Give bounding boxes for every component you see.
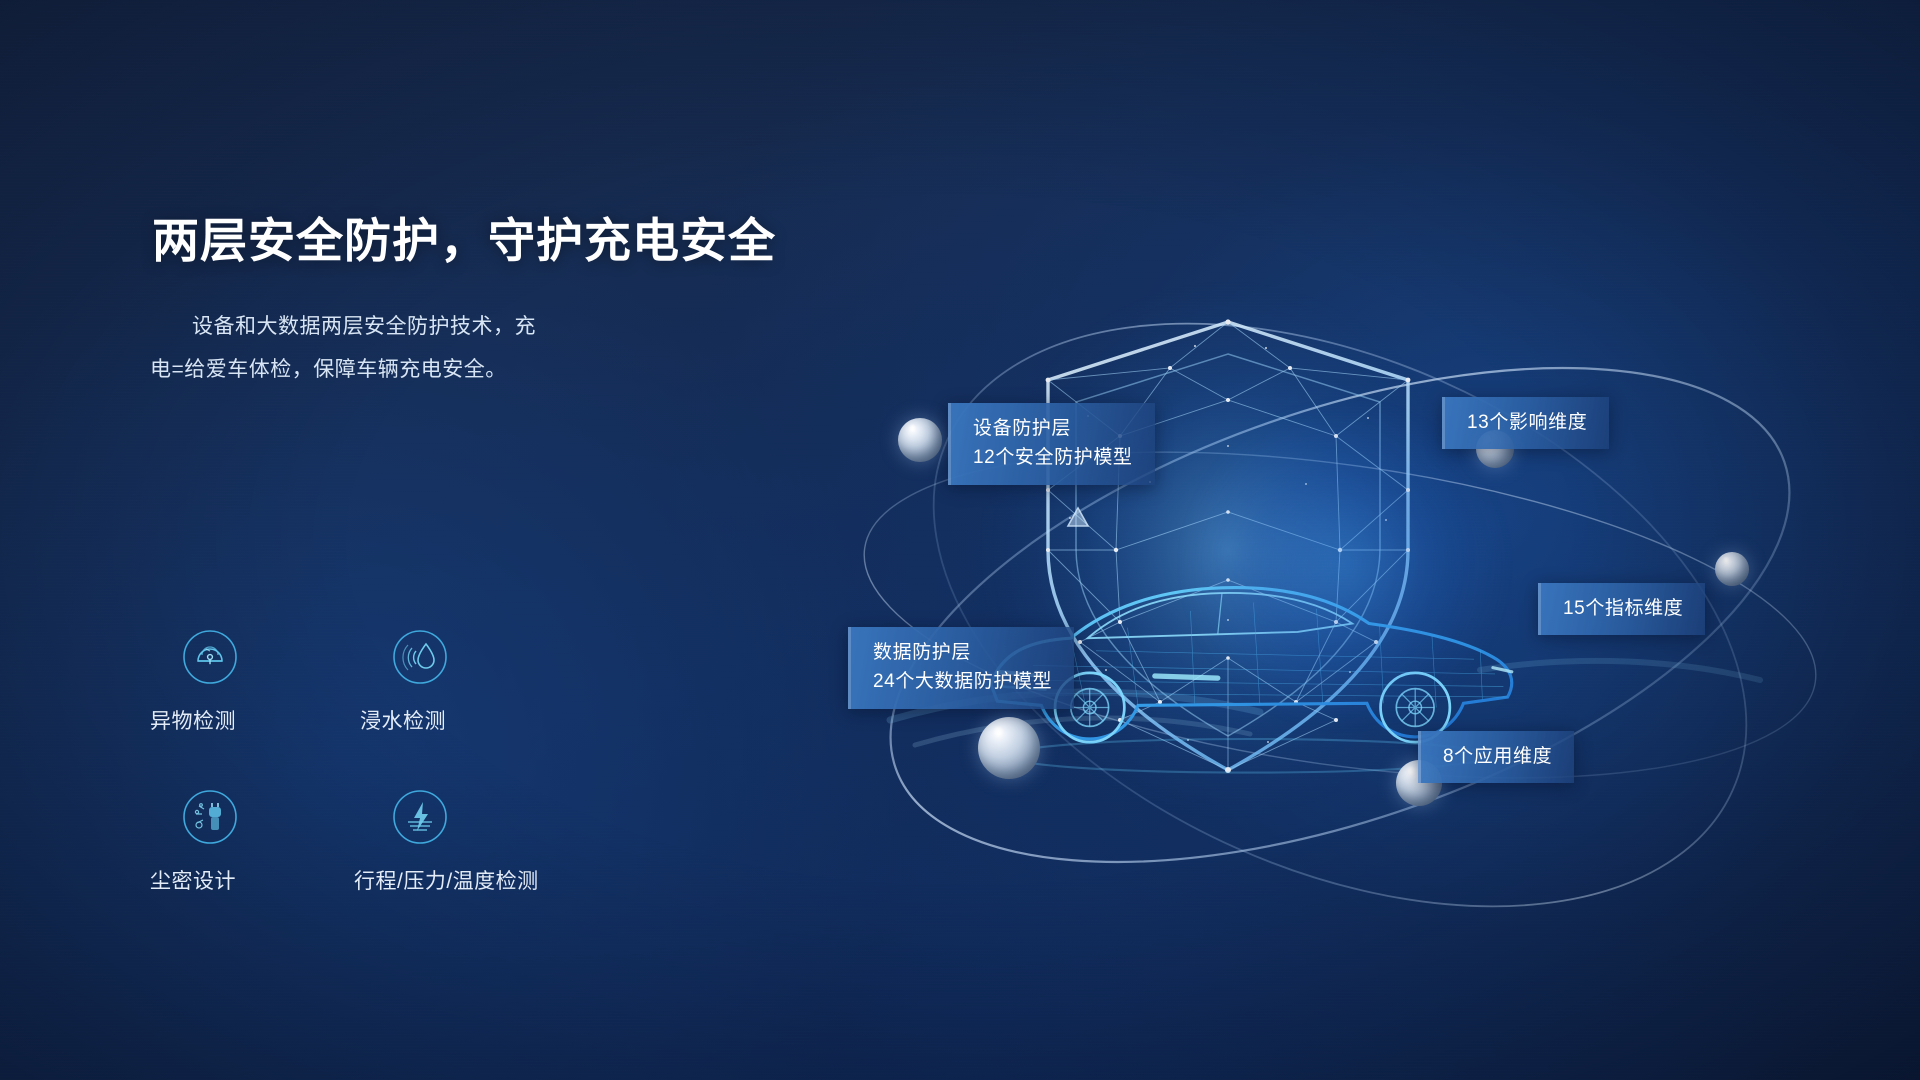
lock-shield-icon [180,627,240,687]
feature-label: 浸水检测 [360,705,570,735]
feature-label: 异物检测 [150,705,360,735]
callout-line2: 24个大数据防护模型 [873,667,1052,696]
callout-line1: 15个指标维度 [1563,598,1683,619]
feature-label: 行程/压力/温度检测 [354,865,570,895]
lightning-bolt-icon [390,787,450,847]
feature-row-1: 异物检测 浸水检测 [150,615,620,735]
slide-canvas: 两层安全防护，守护充电安全 设备和大数据两层安全防护技术，充 电=给爱车体检，保… [0,0,1920,1080]
feature-label: 尘密设计 [150,865,360,895]
page-title: 两层安全防护，守护充电安全 [152,213,912,268]
orbital-ring [820,250,1920,970]
callout-application-dimensions[interactable]: 8个应用维度 [1418,731,1574,783]
feature-item-water-immersion[interactable]: 浸水检测 [360,615,570,735]
intro-paragraph-line2: 电=给爱车体检，保障车辆充电安全。 [150,358,507,381]
callout-line1: 设备防护层 [973,418,1071,439]
orbit-sphere-4 [978,717,1040,779]
feature-item-travel-pressure-temp[interactable]: 行程/压力/温度检测 [360,775,570,895]
callout-line2: 12个安全防护模型 [973,443,1133,472]
hero-artwork [820,250,1920,970]
water-droplet-icon [390,627,450,687]
orbit-sphere-1 [898,418,942,462]
callout-data-protection-layer[interactable]: 数据防护层 24个大数据防护模型 [848,627,1074,709]
feature-grid: 异物检测 浸水检测 [150,615,620,895]
feature-item-dust-seal[interactable]: 尘密设计 [150,775,360,895]
feature-row-2: 尘密设计 行程/压力/温度检测 [150,775,620,895]
intro-paragraph: 设备和大数据两层安全防护技术，充 电=给爱车体检，保障车辆充电安全。 [150,305,620,391]
callout-line1: 数据防护层 [873,642,971,663]
orbit-sphere-3 [1715,552,1749,586]
feature-item-foreign-object[interactable]: 异物检测 [150,615,360,735]
callout-line1: 8个应用维度 [1443,746,1552,767]
callout-indicator-dimensions[interactable]: 15个指标维度 [1538,583,1705,635]
intro-paragraph-line1: 设备和大数据两层安全防护技术，充 [192,315,536,338]
callout-device-protection-layer[interactable]: 设备防护层 12个安全防护模型 [948,403,1155,485]
dust-seal-plug-icon [180,787,240,847]
callout-impact-dimensions[interactable]: 13个影响维度 [1442,397,1609,449]
callout-line1: 13个影响维度 [1467,412,1587,433]
